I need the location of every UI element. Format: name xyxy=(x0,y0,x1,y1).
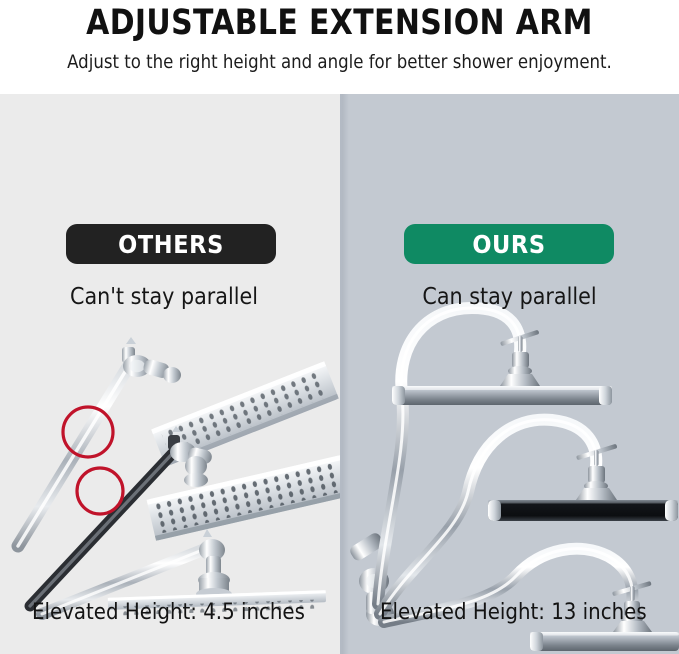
ours-elevated-height: Elevated Height: 13 inches xyxy=(340,600,679,625)
ours-panel: OURS Can stay parallel Elevated Height: … xyxy=(340,94,679,654)
ours-badge: OURS xyxy=(404,224,614,264)
page-title: ADJUSTABLE EXTENSION ARM xyxy=(17,4,662,42)
ours-head-upper xyxy=(378,308,612,604)
others-product-illustration xyxy=(0,94,340,654)
ours-caption: Can stay parallel xyxy=(340,284,679,310)
ours-badge-label: OURS xyxy=(472,230,545,259)
ours-product-illustration xyxy=(340,94,679,654)
header-band: ADJUSTABLE EXTENSION ARM Adjust to the r… xyxy=(0,0,679,94)
others-caption: Can't stay parallel xyxy=(0,284,340,310)
others-badge-label: OTHERS xyxy=(118,230,224,259)
page-subtitle: Adjust to the right height and angle for… xyxy=(10,49,669,75)
others-panel: OTHERS Can't stay parallel Elevated Heig… xyxy=(0,94,340,654)
others-badge: OTHERS xyxy=(66,224,276,264)
comparison-section: OTHERS Can't stay parallel Elevated Heig… xyxy=(0,94,679,654)
others-elevated-height: Elevated Height: 4.5 inches xyxy=(0,600,340,625)
misalignment-marker-lower xyxy=(77,468,123,514)
